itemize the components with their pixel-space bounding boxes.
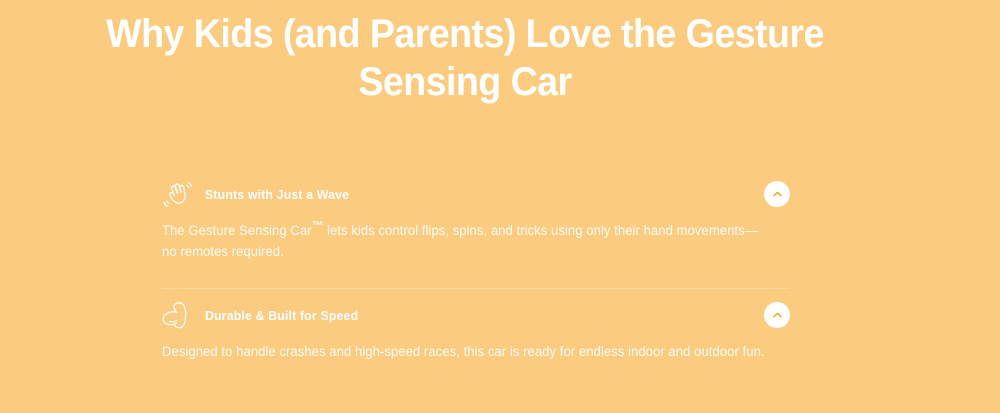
chevron-up-icon	[773, 191, 782, 197]
accordion-toggle-durable[interactable]	[764, 302, 790, 328]
accordion-header-durable[interactable]: Durable & Built for Speed	[162, 289, 790, 341]
accordion-title-stunts: Stunts with Just a Wave	[205, 187, 349, 202]
page-title: Why Kids (and Parents) Love the Gesture …	[61, 10, 869, 106]
accordion-text-durable: Designed to handle crashes and high-spee…	[162, 341, 767, 362]
flexed-biceps-icon	[162, 300, 196, 330]
chevron-up-icon	[773, 312, 782, 318]
features-accordion: Stunts with Just a Wave The Gesture Sens…	[162, 168, 790, 388]
accordion-toggle-stunts[interactable]	[764, 181, 790, 207]
accordion-text-stunts-part1: The Gesture Sensing Car	[162, 223, 312, 238]
page-title-wrapper: Why Kids (and Parents) Love the Gesture …	[35, 10, 895, 106]
trademark-symbol: ™	[312, 219, 324, 233]
waving-hand-icon	[162, 179, 196, 209]
accordion-body-stunts: The Gesture Sensing Car™ lets kids contr…	[162, 220, 790, 288]
accordion-text-durable-part1: Designed to handle crashes and high-spee…	[162, 344, 765, 359]
accordion-title-durable: Durable & Built for Speed	[205, 308, 358, 323]
accordion-text-stunts: The Gesture Sensing Car™ lets kids contr…	[162, 220, 767, 262]
gesture-sensing-car-section: Why Kids (and Parents) Love the Gesture …	[0, 0, 1000, 413]
accordion-item-stunts: Stunts with Just a Wave The Gesture Sens…	[162, 168, 790, 288]
accordion-body-durable: Designed to handle crashes and high-spee…	[162, 341, 790, 388]
accordion-item-durable: Durable & Built for Speed Designed to ha…	[162, 288, 790, 388]
accordion-header-stunts[interactable]: Stunts with Just a Wave	[162, 168, 790, 220]
